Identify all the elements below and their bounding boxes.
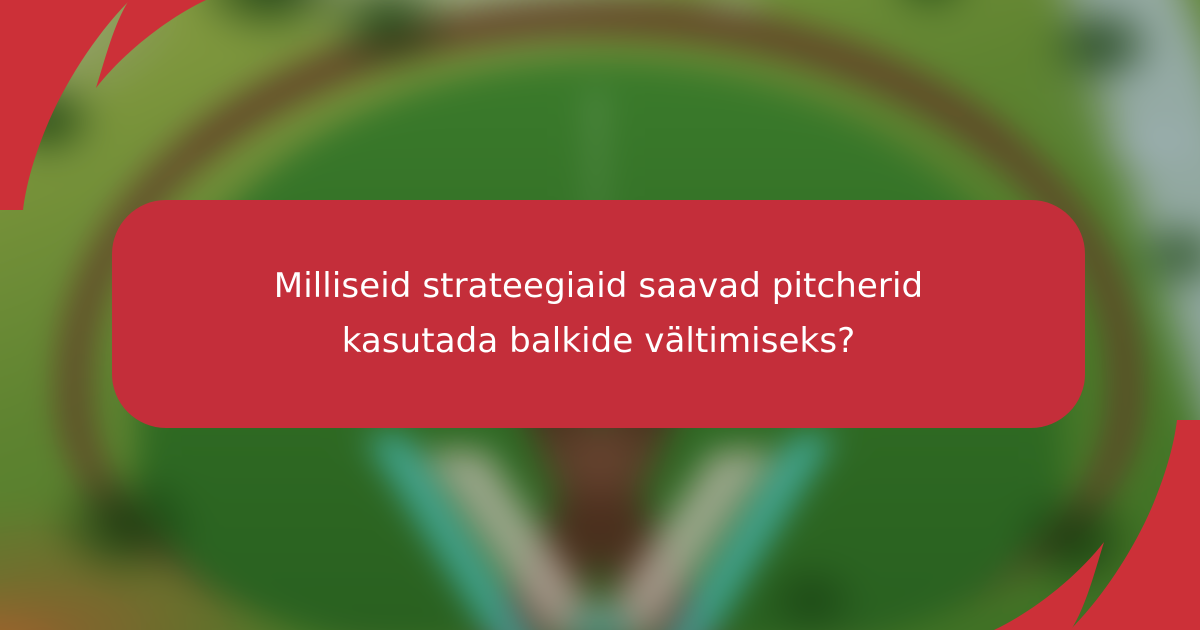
question-card: Milliseid strateegiaid saavad pitcherid … [112,200,1085,428]
question-title: Milliseid strateegiaid saavad pitcherid … [274,259,923,369]
social-card-canvas: Milliseid strateegiaid saavad pitcherid … [0,0,1200,630]
